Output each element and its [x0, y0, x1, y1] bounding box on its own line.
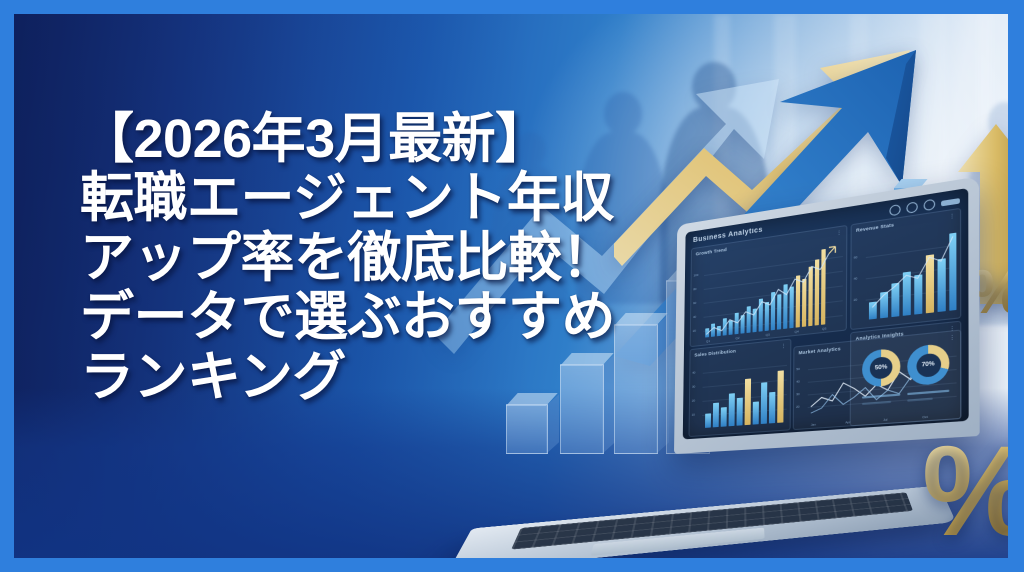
- image-canvas: % Business Analytics Growth Trend ⋮: [0, 0, 1024, 572]
- image-inner-frame: % Business Analytics Growth Trend ⋮: [14, 14, 1008, 558]
- laptop-lid: Business Analytics Growth Trend ⋮ 10080 …: [674, 176, 980, 454]
- analytics-insights-panel[interactable]: Analytics Insights ⋮ 50% 70%: [850, 321, 962, 427]
- donut-chart-70: 70%: [907, 343, 949, 386]
- laptop-screen: Business Analytics Growth Trend ⋮ 10080 …: [683, 188, 969, 440]
- panel-more-icon[interactable]: ⋮: [781, 343, 786, 350]
- donut-chart-50: 50%: [862, 348, 900, 388]
- headline-line-1: 【2026年3月最新】: [80, 110, 700, 169]
- gear-icon[interactable]: [924, 199, 936, 212]
- donut-value: 50%: [875, 364, 887, 372]
- revenue-stats-panel[interactable]: Revenue Stats ⋮ 6040 20: [850, 208, 961, 330]
- bell-icon[interactable]: [906, 201, 917, 214]
- percent-symbol-large: %: [922, 428, 1008, 556]
- panel-title: Analytics Insights: [856, 331, 904, 341]
- panel-more-icon[interactable]: ⋮: [949, 326, 955, 333]
- page-title: 【2026年3月最新】 転職エージェント年収 アップ率を徹底比較！ データで選ぶ…: [80, 110, 700, 407]
- headline-line-2: 転職エージェント年収: [80, 169, 700, 228]
- donut-value: 70%: [922, 361, 935, 369]
- panel-title: Sales Distribution: [694, 348, 736, 357]
- sales-distribution-panel[interactable]: Sales Distribution ⋮ 4030 2010: [689, 338, 792, 437]
- search-icon[interactable]: [889, 204, 900, 216]
- headline-line-4: データで選ぶおすすめ: [80, 288, 700, 347]
- growth-trend-panel[interactable]: Growth Trend ⋮ 10080 6040 20: [690, 225, 848, 347]
- menu-icon[interactable]: [941, 197, 960, 205]
- headline-line-5: ランキング: [80, 348, 700, 407]
- headline-line-3: アップ率を徹底比較！: [80, 229, 700, 288]
